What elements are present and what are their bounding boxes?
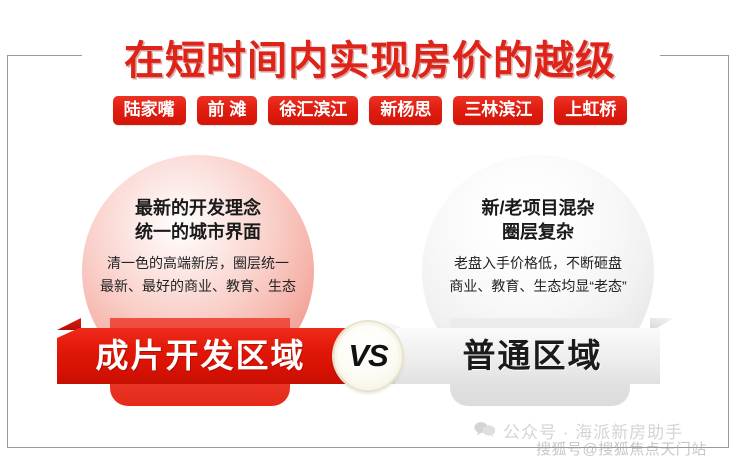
left-banner-label: 成片开发区域 xyxy=(68,331,333,381)
left-headline-line1: 最新的开发理念 xyxy=(63,196,333,220)
vs-badge: VS xyxy=(334,322,402,390)
district-tag-xuhuibinjiang[interactable]: 徐汇滨江 xyxy=(268,96,358,125)
left-detail-line1: 清一色的高端新房，圈层统一 xyxy=(63,253,333,273)
left-banner-fold xyxy=(57,318,81,330)
right-detail-line1: 老盘入手价格低，不断砸盘 xyxy=(403,253,673,273)
right-headline-line1: 新/老项目混杂 xyxy=(403,196,673,220)
district-tag-shanghongqiao[interactable]: 上虹桥 xyxy=(554,96,627,125)
district-tag-xinyangsi[interactable]: 新杨思 xyxy=(369,96,442,125)
right-detail-line2: 商业、教育、生态均显“老态” xyxy=(403,276,673,296)
district-tag-qiantan[interactable]: 前 滩 xyxy=(197,96,258,125)
district-tag-row: 陆家嘴 前 滩 徐汇滨江 新杨思 三林滨江 上虹桥 xyxy=(0,96,740,125)
vs-label: VS xyxy=(348,338,387,374)
left-detail-line2: 最新、最好的商业、教育、生态 xyxy=(63,276,333,296)
right-banner-label: 普通区域 xyxy=(410,331,655,381)
left-sphere-content: 最新的开发理念 统一的城市界面 清一色的高端新房，圈层统一 最新、最好的商业、教… xyxy=(63,196,333,296)
poster-canvas: 在短时间内实现房价的越级 陆家嘴 前 滩 徐汇滨江 新杨思 三林滨江 上虹桥 最… xyxy=(0,0,740,465)
sohu-watermark-text: 搜狐号@搜狐焦点天门站 xyxy=(536,438,707,459)
district-tag-lujiazui[interactable]: 陆家嘴 xyxy=(113,96,186,125)
right-sphere-content: 新/老项目混杂 圈层复杂 老盘入手价格低，不断砸盘 商业、教育、生态均显“老态” xyxy=(403,196,673,296)
district-tag-sanlinbinjiang[interactable]: 三林滨江 xyxy=(453,96,543,125)
left-headline-line2: 统一的城市界面 xyxy=(63,220,333,244)
wechat-icon xyxy=(474,421,496,441)
right-headline-line2: 圈层复杂 xyxy=(403,220,673,244)
page-title: 在短时间内实现房价的越级 xyxy=(0,28,740,86)
